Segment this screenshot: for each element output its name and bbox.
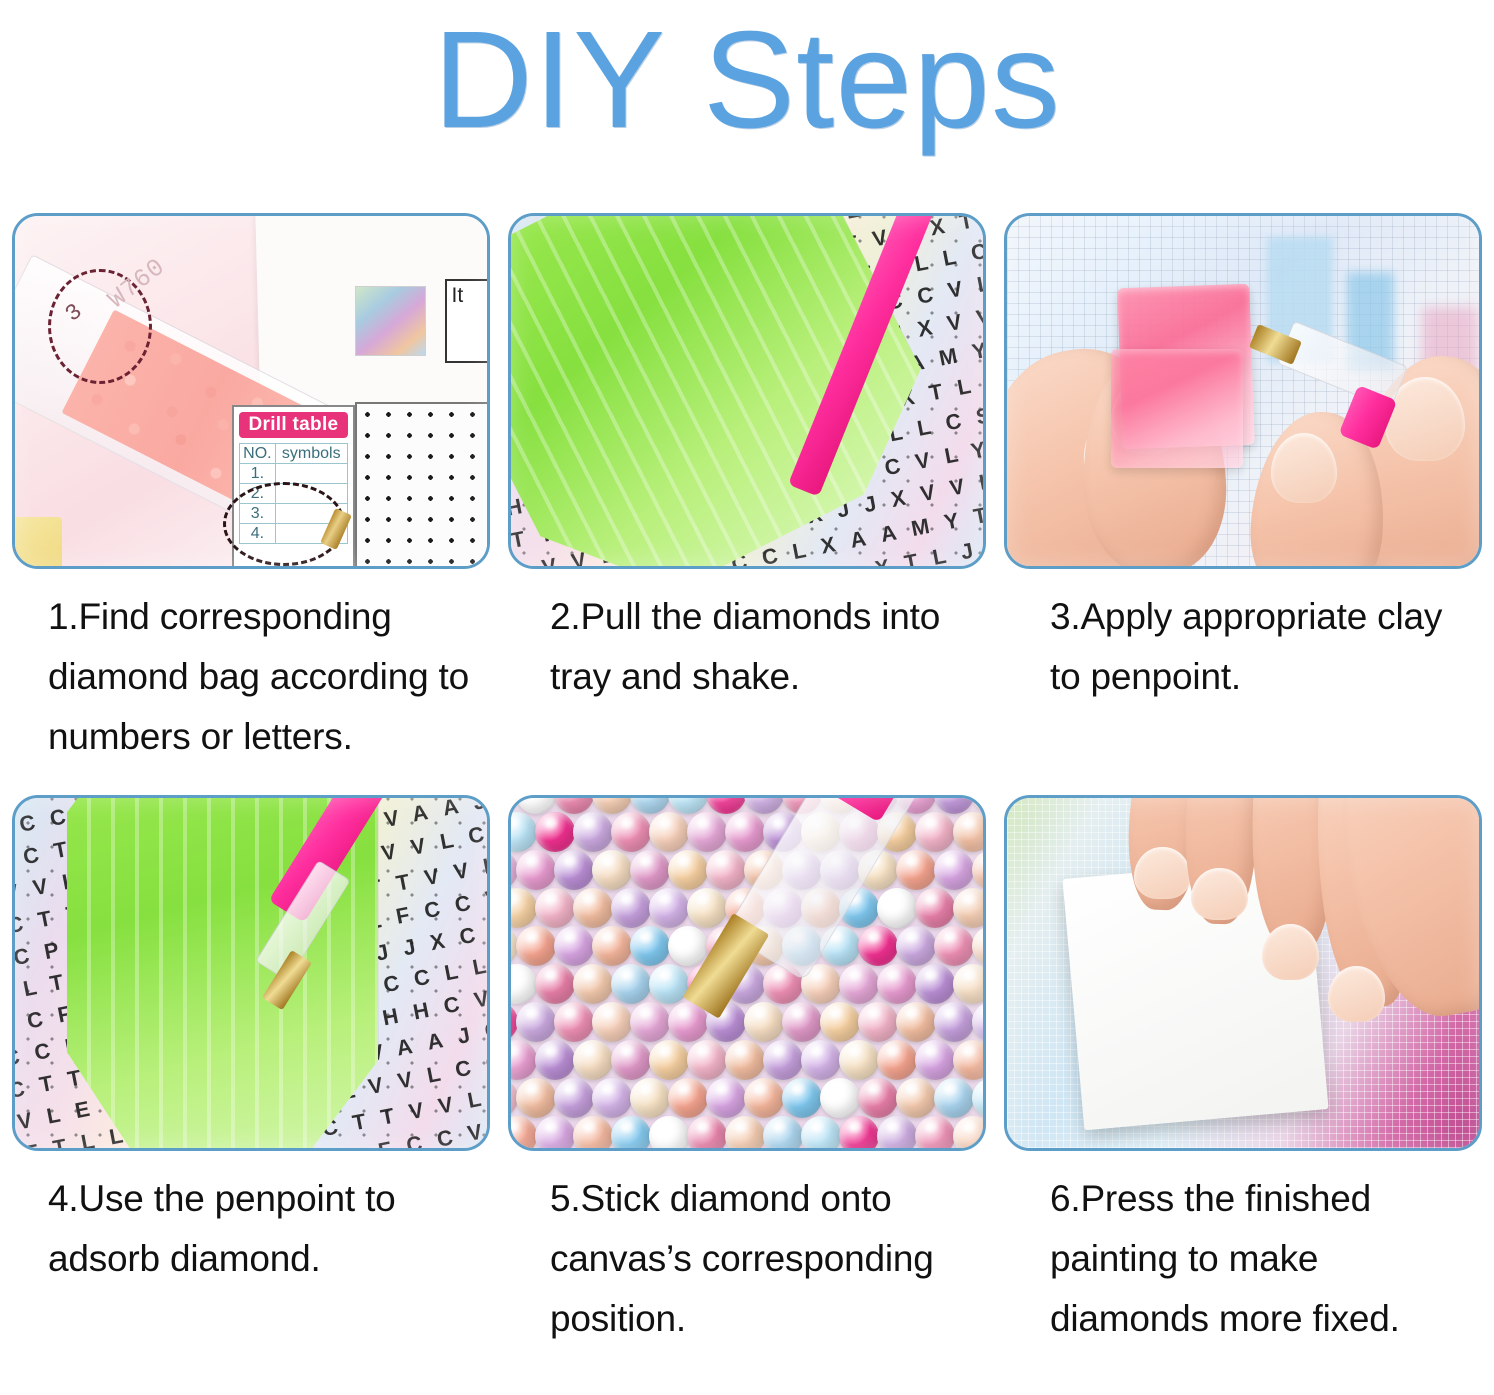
diamond-gem	[820, 1078, 860, 1118]
diamond-gem	[516, 1002, 556, 1042]
diamond-gem	[611, 812, 651, 852]
diamond-gem	[820, 1002, 860, 1042]
placed-diamonds-field	[511, 798, 983, 1148]
diamond-gem	[858, 1002, 898, 1042]
pink-clay-lower	[1111, 349, 1243, 468]
diamond-gem	[611, 1040, 651, 1080]
diamond-gem	[630, 926, 670, 966]
diamond-gem	[668, 1078, 708, 1118]
fingernail-index	[1134, 847, 1191, 900]
step-card-3: 3.Apply appropriate clay to penpoint.	[1004, 213, 1482, 767]
diamond-gem	[706, 1078, 746, 1118]
diamond-gem	[554, 926, 594, 966]
diamond-gem	[972, 850, 983, 890]
diamond-gem	[573, 888, 613, 928]
fingernail-ring	[1262, 924, 1319, 980]
item-text-box: It	[445, 279, 487, 363]
diy-steps-infographic: DIY Steps W760 3 It Drill tabl	[0, 0, 1494, 1395]
diamond-gem	[687, 1040, 727, 1080]
diamond-gem	[953, 812, 983, 852]
step-card-5: 5.Stick diamond onto canvas’s correspond…	[508, 795, 986, 1349]
diamond-gem	[877, 1040, 917, 1080]
step-image-2: XAAMYTTTYTTYTYTYTTCCVLYYTTTYVTLLCT VLXTL…	[508, 213, 986, 569]
diamond-gem	[611, 1116, 651, 1148]
diamond-gem	[858, 1078, 898, 1118]
diamond-gem	[782, 1078, 822, 1118]
fingernail-middle	[1191, 868, 1248, 921]
step-image-1: W760 3 It Drill table NO. symbols	[12, 213, 490, 569]
diamond-gem	[896, 850, 936, 890]
diamond-gem	[511, 1116, 537, 1148]
step-card-4: VAAJCCFCTTVVLCTTXJJXCCTTLLHHCVLTTL VVLCC…	[12, 795, 490, 1349]
diamond-gem	[573, 812, 613, 852]
step-image-5	[508, 795, 986, 1151]
diamond-gem	[972, 926, 983, 966]
step-card-2: XAAMYTTTYTTYTYTYTTCCVLYYTTTYVTLLCT VLXTL…	[508, 213, 986, 767]
diamond-gem	[915, 812, 955, 852]
diamond-gem	[934, 1002, 974, 1042]
diamond-gem	[953, 888, 983, 928]
diamond-gem	[934, 1078, 974, 1118]
diamond-gem	[649, 1116, 689, 1148]
diamond-gem	[516, 1078, 556, 1118]
diamond-gem	[858, 926, 898, 966]
step-card-6: 6.Press the finished painting to make di…	[1004, 795, 1482, 1349]
diamond-gem	[554, 850, 594, 890]
diamond-gem	[535, 964, 575, 1004]
diamond-gem	[725, 1040, 765, 1080]
diamond-gem	[915, 1040, 955, 1080]
diamond-gem	[592, 1002, 632, 1042]
diamond-gem	[511, 812, 537, 852]
diamond-gem	[763, 1040, 803, 1080]
diamond-gem	[763, 1116, 803, 1148]
diamond-gem	[744, 1002, 784, 1042]
diamond-gem	[535, 1116, 575, 1148]
diamond-gem	[630, 1002, 670, 1042]
diamond-gem	[953, 1040, 983, 1080]
diamond-gem	[896, 1078, 936, 1118]
diamond-gem	[611, 964, 651, 1004]
diamond-gem	[915, 1116, 955, 1148]
step-caption-5: 5.Stick diamond onto canvas’s correspond…	[508, 1169, 986, 1349]
diamond-gem	[573, 964, 613, 1004]
diamond-gem	[630, 850, 670, 890]
diamond-gem	[706, 850, 746, 890]
canvas-dot-grid	[355, 402, 487, 567]
diamond-gem	[511, 888, 537, 928]
diamond-gem	[668, 926, 708, 966]
diamond-gem	[687, 1116, 727, 1148]
page-title: DIY Steps	[0, 0, 1494, 164]
diamond-gem	[687, 888, 727, 928]
diamond-gem	[649, 964, 689, 1004]
drill-table-title: Drill table	[239, 412, 348, 438]
diamond-gem	[972, 1002, 983, 1042]
diamond-gem	[511, 1040, 537, 1080]
step-image-4: VAAJCCFCTTVVLCTTXJJXCCTTLLHHCVLTTL VVLCC…	[12, 795, 490, 1151]
diamond-gem	[801, 1116, 841, 1148]
diamond-gem	[592, 926, 632, 966]
diamond-gem	[516, 850, 556, 890]
diamond-gem	[573, 1040, 613, 1080]
diamond-gem	[839, 1116, 879, 1148]
diamond-gem	[573, 1116, 613, 1148]
diamond-gem	[668, 850, 708, 890]
step-caption-1: 1.Find corresponding diamond bag accordi…	[12, 587, 490, 767]
diamond-gem	[649, 1040, 689, 1080]
diamond-gem	[630, 1078, 670, 1118]
drill-table-col-no: NO.	[240, 444, 276, 464]
step-caption-3: 3.Apply appropriate clay to penpoint.	[1004, 587, 1482, 707]
diamond-gem	[611, 888, 651, 928]
diamond-gem	[934, 926, 974, 966]
diamond-gem	[744, 1078, 784, 1118]
diamond-gem	[782, 1002, 822, 1042]
diamond-gem	[877, 964, 917, 1004]
diamond-gem	[554, 1078, 594, 1118]
diamond-gem	[725, 1116, 765, 1148]
step-image-6	[1004, 795, 1482, 1151]
preview-thumbnail	[355, 286, 426, 356]
diamond-gem	[839, 1040, 879, 1080]
drill-table-col-symbols: symbols	[275, 444, 347, 464]
diamond-gem	[725, 812, 765, 852]
fingernail-pinky	[1328, 966, 1385, 1022]
steps-grid: W760 3 It Drill table NO. symbols	[12, 213, 1482, 1349]
diamond-gem	[535, 1040, 575, 1080]
diamond-gem	[535, 812, 575, 852]
diamond-gem	[934, 850, 974, 890]
diamond-gem	[649, 888, 689, 928]
diamond-gem	[953, 964, 983, 1004]
step-image-3	[1004, 213, 1482, 569]
diamond-gem	[915, 964, 955, 1004]
diamond-gem	[877, 888, 917, 928]
step-caption-2: 2.Pull the diamonds into tray and shake.	[508, 587, 986, 707]
step-caption-6: 6.Press the finished painting to make di…	[1004, 1169, 1482, 1349]
drill-table-symbol-1	[275, 464, 347, 484]
diamond-gem	[896, 1002, 936, 1042]
diamond-gem	[516, 926, 556, 966]
diamond-gem	[915, 888, 955, 928]
diamond-gem	[953, 1116, 983, 1148]
diamond-gem	[687, 812, 727, 852]
drill-table-row-1: 1.	[240, 464, 276, 484]
diamond-gem	[839, 964, 879, 1004]
diamond-gem	[535, 888, 575, 928]
diamond-gem	[896, 926, 936, 966]
diamond-gem	[592, 850, 632, 890]
yellow-drill-bag	[15, 517, 62, 566]
diamond-gem	[649, 812, 689, 852]
diamond-gem	[592, 1078, 632, 1118]
step-card-1: W760 3 It Drill table NO. symbols	[12, 213, 490, 767]
diamond-gem	[801, 1040, 841, 1080]
diamond-gem	[511, 964, 537, 1004]
step-caption-4: 4.Use the penpoint to adsorb diamond.	[12, 1169, 490, 1289]
diamond-gem	[877, 1116, 917, 1148]
diamond-gem	[972, 1078, 983, 1118]
diamond-gem	[554, 1002, 594, 1042]
